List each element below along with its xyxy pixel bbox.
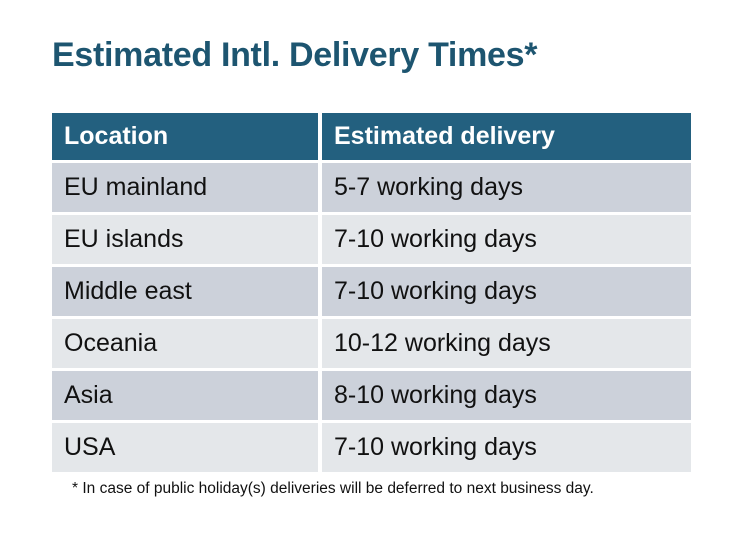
- footnote-text: * In case of public holiday(s) deliverie…: [72, 480, 594, 498]
- column-header-location: Location: [52, 113, 318, 160]
- delivery-times-table: Location Estimated delivery EU mainland …: [52, 113, 691, 472]
- column-header-estimated-delivery: Estimated delivery: [322, 113, 691, 160]
- cell-location: EU islands: [52, 215, 318, 264]
- table-header-row: Location Estimated delivery: [52, 113, 691, 160]
- cell-location: EU mainland: [52, 163, 318, 212]
- cell-estimated-delivery: 10-12 working days: [322, 319, 691, 368]
- cell-location: USA: [52, 423, 318, 472]
- page-title: Estimated Intl. Delivery Times*: [52, 36, 537, 75]
- table-row: EU mainland 5-7 working days: [52, 163, 691, 212]
- table-row: USA 7-10 working days: [52, 423, 691, 472]
- table-row: EU islands 7-10 working days: [52, 215, 691, 264]
- cell-location: Asia: [52, 371, 318, 420]
- cell-estimated-delivery: 5-7 working days: [322, 163, 691, 212]
- cell-estimated-delivery: 8-10 working days: [322, 371, 691, 420]
- cell-estimated-delivery: 7-10 working days: [322, 423, 691, 472]
- cell-estimated-delivery: 7-10 working days: [322, 215, 691, 264]
- table-row: Oceania 10-12 working days: [52, 319, 691, 368]
- table-row: Middle east 7-10 working days: [52, 267, 691, 316]
- cell-location: Oceania: [52, 319, 318, 368]
- table-row: Asia 8-10 working days: [52, 371, 691, 420]
- cell-location: Middle east: [52, 267, 318, 316]
- delivery-times-page: Estimated Intl. Delivery Times* Location…: [0, 0, 745, 536]
- cell-estimated-delivery: 7-10 working days: [322, 267, 691, 316]
